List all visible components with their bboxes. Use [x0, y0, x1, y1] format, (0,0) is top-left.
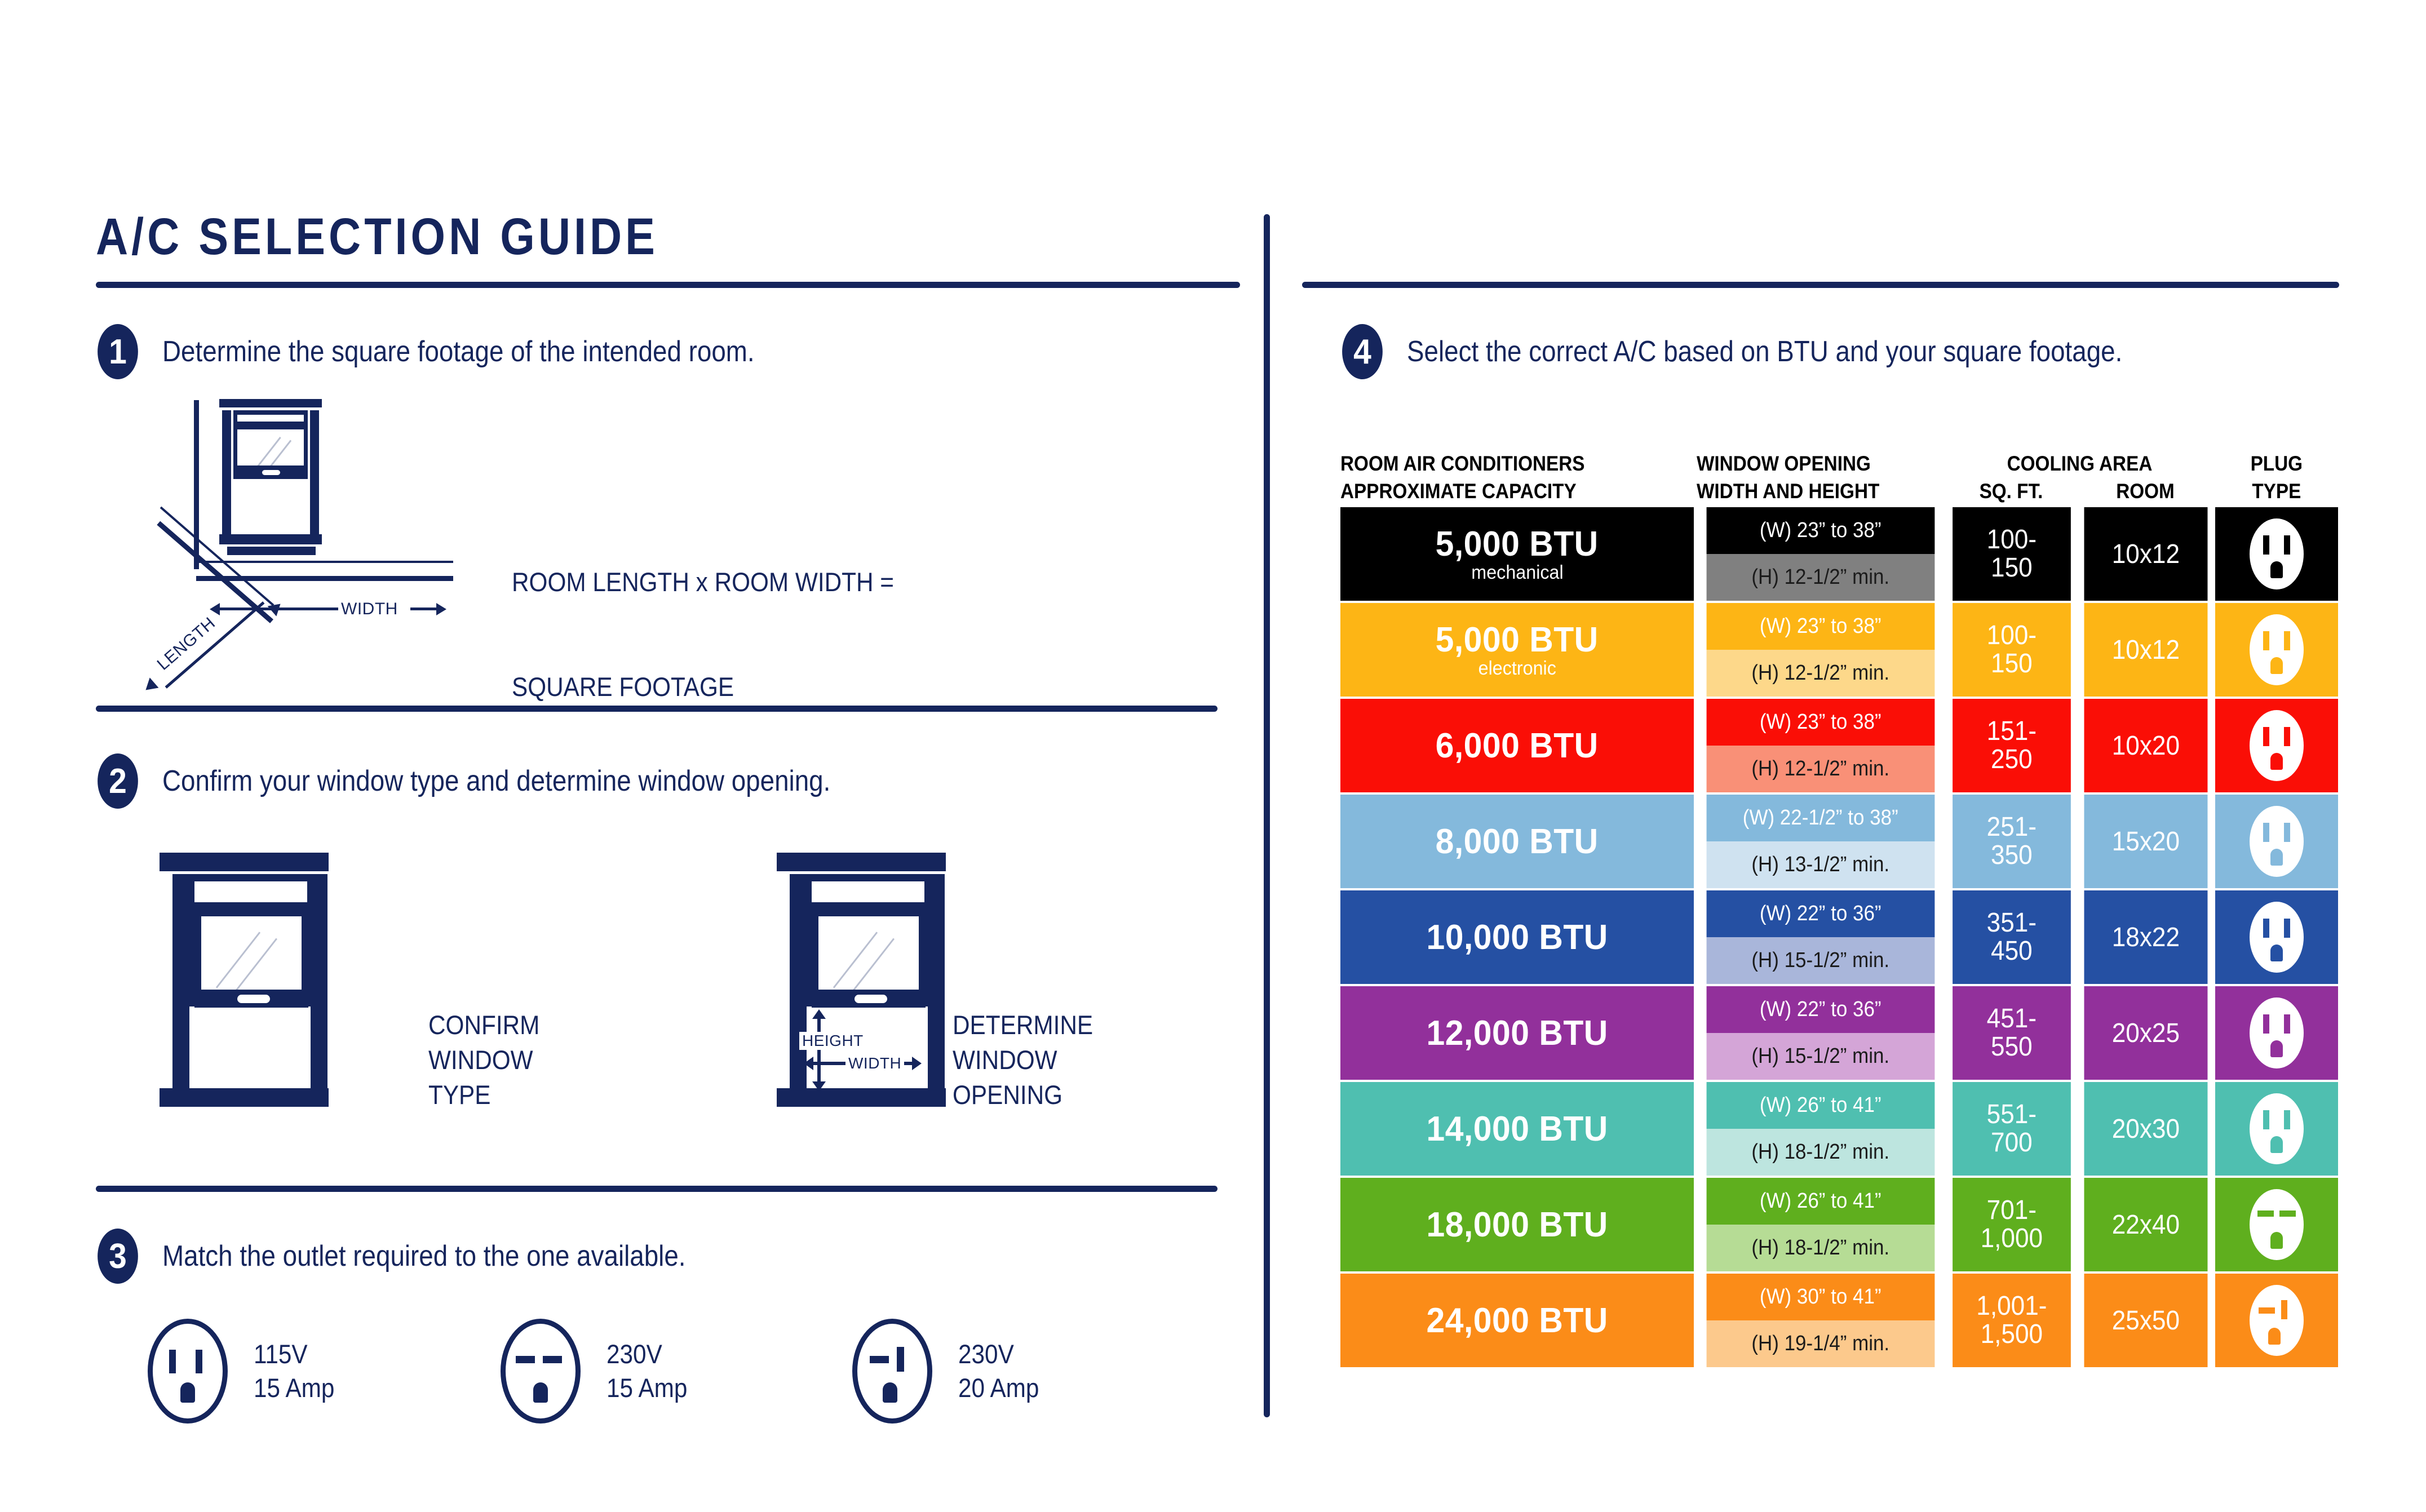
header-cooling-line1: COOLING AREA — [1960, 451, 2199, 480]
window-height-value: (H) 12-1/2” min. — [1707, 554, 1934, 601]
cell-plug-type — [2215, 603, 2338, 697]
window-b-sash-left — [812, 916, 818, 990]
cell-window-opening: (W) 23” to 38”(H) 12-1/2” min. — [1697, 507, 1945, 601]
window-a-glass-reflection-1 — [216, 932, 260, 988]
plug-slot-left-vertical — [2263, 919, 2269, 938]
cell-window-opening: (W) 23” to 38”(H) 12-1/2” min. — [1697, 603, 1945, 697]
center-divider — [1264, 214, 1270, 1417]
opening-height-arrow-up — [812, 1009, 826, 1019]
step-4-text: Select the correct A/C based on BTU and … — [1407, 335, 2122, 369]
room-diagram: WIDTH LENGTH — [130, 389, 490, 688]
step2-step3-divider — [96, 1186, 1218, 1192]
sqft-line: 100- — [1986, 622, 2036, 650]
confirm-window-type-caption: CONFIRM WINDOW TYPE — [428, 1008, 539, 1112]
step-1-text: Determine the square footage of the inte… — [162, 335, 755, 369]
cell-window-opening: (W) 22” to 36”(H) 15-1/2” min. — [1697, 890, 1945, 984]
outlet-230v-15a-face — [501, 1319, 581, 1424]
plug-slot-right-vertical — [2284, 919, 2290, 938]
window-width-value: (W) 26” to 41” — [1707, 1082, 1934, 1129]
outlet-115v-15a: 115V 15 Amp — [148, 1319, 343, 1424]
plug-slot-left-vertical — [2263, 535, 2269, 555]
plug-icon — [2250, 614, 2304, 685]
window-height-value: (H) 18-1/2” min. — [1707, 1129, 1934, 1176]
header-capacity-line2: APPROXIMATE CAPACITY — [1340, 479, 1658, 507]
window-sill — [219, 534, 322, 544]
opening-width-arrow-right — [912, 1057, 922, 1070]
plug-ground-hole — [2268, 1328, 2281, 1345]
cell-sqft: 701-1,000 — [1953, 1178, 2071, 1271]
plug-slot-right-vertical — [2284, 727, 2290, 746]
floor-line-front — [196, 576, 453, 581]
btu-value: 5,000 BTU — [1436, 524, 1599, 564]
outlet-slot-right-vertical — [897, 1347, 904, 1372]
plug-icon — [2250, 806, 2304, 877]
outlet-115v-15a-label: 115V 15 Amp — [254, 1337, 334, 1405]
sqft-line: 100- — [1986, 526, 2036, 554]
header-room: ROOM — [2085, 479, 2206, 507]
plug-slot-right-vertical — [2284, 631, 2290, 650]
cell-sqft: 100-150 — [1953, 507, 2071, 601]
opening-height-label: HEIGHT — [799, 1032, 866, 1050]
window-a-glass-reflection-2 — [235, 938, 277, 992]
table-row: 14,000 BTU(W) 26” to 41”(H) 18-1/2” min.… — [1340, 1082, 2338, 1176]
btu-value: 6,000 BTU — [1436, 726, 1599, 766]
length-arrow-tail-head — [141, 677, 159, 695]
table-row: 18,000 BTU(W) 26” to 41”(H) 18-1/2” min.… — [1340, 1178, 2338, 1271]
cell-window-opening: (W) 23” to 38”(H) 12-1/2” min. — [1697, 699, 1945, 792]
table-row: 5,000 BTUmechanical(W) 23” to 38”(H) 12-… — [1340, 507, 2338, 601]
page-title: A/C SELECTION GUIDE — [96, 207, 658, 267]
sqft-line: 1,001- — [1976, 1292, 2047, 1320]
step-2-text: Confirm your window type and determine w… — [162, 764, 830, 798]
step-2-badge: 2 — [98, 753, 138, 809]
window-height-value: (H) 18-1/2” min. — [1707, 1225, 1934, 1271]
cell-capacity: 14,000 BTU — [1340, 1082, 1694, 1176]
sqft-line: 350 — [1986, 841, 2036, 870]
sqft-line: 351- — [1986, 909, 2036, 937]
cell-room-size: 25x50 — [2084, 1274, 2207, 1367]
length-arrow-group: LENGTH — [148, 608, 283, 681]
plug-slot-left-vertical — [2263, 1110, 2269, 1129]
window-b-glass-reflection-2 — [852, 938, 895, 992]
window-b-sill — [777, 1088, 946, 1107]
plug-ground-hole — [2270, 1232, 2283, 1249]
btu-subtitle: mechanical — [1471, 562, 1563, 584]
cell-plug-type — [2215, 1082, 2338, 1176]
window-a-upper-top-rail — [183, 874, 318, 881]
plug-slot-left-vertical — [2263, 823, 2269, 842]
cell-sqft: 351-450 — [1953, 890, 2071, 984]
determine-window-opening-caption: DETERMINE WINDOW OPENING — [953, 1008, 1093, 1112]
header-capacity-line1: ROOM AIR CONDITIONERS — [1340, 451, 1658, 480]
header-cooling: COOLING AREA SQ. FT. ROOM — [1947, 451, 2212, 507]
btu-value: 18,000 BTU — [1426, 1205, 1608, 1245]
plug-slot-left-vertical — [2263, 727, 2269, 746]
length-label: LENGTH — [152, 612, 222, 676]
window-width-value: (W) 26” to 41” — [1707, 1178, 1934, 1225]
cell-plug-type — [2215, 986, 2338, 1080]
window-a-sill — [160, 1088, 329, 1107]
table-row: 10,000 BTU(W) 22” to 36”(H) 15-1/2” min.… — [1340, 890, 2338, 984]
cell-capacity: 5,000 BTUelectronic — [1340, 603, 1694, 697]
cell-room-size: 10x12 — [2084, 507, 2207, 601]
cell-capacity: 5,000 BTUmechanical — [1340, 507, 1694, 601]
outlet-slot-left-horizontal — [870, 1356, 889, 1363]
outlet-230v-15a-label: 230V 15 Amp — [606, 1337, 687, 1405]
outlet-230v-20a: 230V 20 Amp — [852, 1319, 1048, 1424]
plug-slot-right-vertical — [2284, 1014, 2290, 1034]
window-right-jamb — [310, 410, 319, 534]
outlet-ground-hole — [533, 1382, 548, 1403]
outlet-1-voltage: 115V — [254, 1337, 334, 1371]
window-height-value: (H) 15-1/2” min. — [1707, 1033, 1934, 1080]
window-a-sash-left — [194, 916, 201, 990]
window-b-upper-top-rail — [800, 874, 936, 881]
outlet-ground-hole — [883, 1382, 897, 1403]
plug-ground-hole — [2270, 657, 2283, 674]
cell-room-size: 18x22 — [2084, 890, 2207, 984]
ac-selection-table: ROOM AIR CONDITIONERS APPROXIMATE CAPACI… — [1340, 434, 2338, 1369]
btu-value: 5,000 BTU — [1436, 620, 1599, 660]
step-1-badge: 1 — [98, 324, 138, 379]
window-latch — [262, 470, 280, 475]
plug-slot-right-vertical — [2284, 535, 2290, 555]
plug-icon — [2250, 902, 2304, 973]
window-height-value: (H) 12-1/2” min. — [1707, 650, 1934, 697]
cell-plug-type — [2215, 890, 2338, 984]
plug-icon — [2250, 1189, 2304, 1260]
cell-sqft: 1,001-1,500 — [1953, 1274, 2071, 1367]
opening-height-arrow-line — [817, 1016, 821, 1084]
table-body: 5,000 BTUmechanical(W) 23” to 38”(H) 12-… — [1340, 507, 2338, 1367]
outlet-ground-hole — [180, 1382, 195, 1403]
opening-height-arrow-down — [812, 1081, 826, 1091]
cell-sqft: 251-350 — [1953, 795, 2071, 888]
table-row: 6,000 BTU(W) 23” to 38”(H) 12-1/2” min.1… — [1340, 699, 2338, 792]
cell-window-opening: (W) 22” to 36”(H) 15-1/2” min. — [1697, 986, 1945, 1080]
header-sqft: SQ. FT. — [1954, 479, 2069, 507]
outlet-230v-15a: 230V 15 Amp — [501, 1319, 696, 1424]
outlet-slot-right-horizontal — [543, 1356, 562, 1363]
table-header-row: ROOM AIR CONDITIONERS APPROXIMATE CAPACI… — [1340, 434, 2338, 507]
sqft-line: 701- — [1980, 1196, 2043, 1225]
window-height-value: (H) 13-1/2” min. — [1707, 841, 1934, 888]
square-footage-formula: ROOM LENGTH x ROOM WIDTH = SQUARE FOOTAG… — [512, 495, 894, 739]
btu-subtitle: electronic — [1478, 658, 1556, 680]
outlet-3-amps: 20 Amp — [958, 1371, 1039, 1405]
plug-ground-hole — [2270, 1040, 2283, 1057]
cell-plug-type — [2215, 1274, 2338, 1367]
width-arrow-right-head — [436, 603, 446, 615]
cell-sqft: 100-150 — [1953, 603, 2071, 697]
window-a-upper-right-stile — [307, 874, 318, 1006]
plug-slot-right-vertical — [2284, 823, 2290, 842]
outlet-115v-15a-face — [148, 1319, 228, 1424]
outlet-2-voltage: 230V — [606, 1337, 687, 1371]
width-arrow-line-right — [410, 608, 437, 610]
btu-value: 8,000 BTU — [1436, 822, 1599, 862]
header-plug-line1: PLUG — [2221, 451, 2332, 480]
header-window-line2: WIDTH AND HEIGHT — [1697, 479, 1919, 507]
plug-icon — [2250, 518, 2304, 589]
window-b-upper-left-stile — [800, 874, 812, 1006]
window-upper-sash-rail — [233, 410, 308, 415]
step-2-header: 2 Confirm your window type and determine… — [96, 753, 922, 809]
cell-capacity: 12,000 BTU — [1340, 986, 1694, 1080]
sqft-line: 550 — [1986, 1033, 2036, 1061]
window-width-value: (W) 23” to 38” — [1707, 507, 1934, 554]
window-a-latch — [237, 995, 270, 1003]
sqft-line: 450 — [1986, 937, 2036, 965]
window-type-diagram — [160, 853, 329, 1118]
window-b-meeting-rail — [800, 902, 936, 916]
window-b-sash-right — [919, 916, 926, 990]
window-a-sash-right — [302, 916, 308, 990]
header-capacity: ROOM AIR CONDITIONERS APPROXIMATE CAPACI… — [1340, 451, 1694, 507]
window-a-upper-left-stile — [183, 874, 194, 1006]
sqft-line: 150 — [1986, 650, 2036, 678]
sqft-line: 1,000 — [1980, 1225, 2043, 1253]
step-3-text: Match the outlet required to the one ava… — [162, 1239, 686, 1273]
plug-icon — [2250, 997, 2304, 1068]
window-meeting-rail — [233, 422, 308, 429]
outlet-1-amps: 15 Amp — [254, 1371, 334, 1405]
cell-window-opening: (W) 26” to 41”(H) 18-1/2” min. — [1697, 1178, 1945, 1271]
plug-slot-left-vertical — [2263, 631, 2269, 650]
cell-plug-type — [2215, 507, 2338, 601]
window-b-upper-right-stile — [924, 874, 936, 1006]
cell-sqft: 451-550 — [1953, 986, 2071, 1080]
window-width-value: (W) 23” to 38” — [1707, 603, 1934, 650]
cell-capacity: 6,000 BTU — [1340, 699, 1694, 792]
cell-capacity: 10,000 BTU — [1340, 890, 1694, 984]
opening-width-label: WIDTH — [845, 1054, 904, 1072]
btu-value: 14,000 BTU — [1426, 1109, 1608, 1149]
table-row: 12,000 BTU(W) 22” to 36”(H) 15-1/2” min.… — [1340, 986, 2338, 1080]
window-width-value: (W) 30” to 41” — [1707, 1274, 1934, 1320]
window-b-head-casing — [777, 853, 946, 871]
window-width-value: (W) 22” to 36” — [1707, 890, 1934, 937]
cell-capacity: 24,000 BTU — [1340, 1274, 1694, 1367]
outlet-230v-20a-face — [852, 1319, 932, 1424]
cell-room-size: 20x25 — [2084, 986, 2207, 1080]
cell-plug-type — [2215, 699, 2338, 792]
btu-value: 12,000 BTU — [1426, 1013, 1608, 1053]
plug-icon — [2250, 1093, 2304, 1164]
cell-sqft: 551-700 — [1953, 1082, 2071, 1176]
cell-room-size: 10x20 — [2084, 699, 2207, 792]
plug-ground-hole — [2270, 561, 2283, 578]
btu-value: 10,000 BTU — [1426, 917, 1608, 957]
title-underline-left — [96, 282, 1240, 288]
sqft-line: 251- — [1986, 813, 2036, 841]
window-a-meeting-rail — [183, 902, 318, 916]
window-a-head-casing — [160, 853, 329, 871]
width-label: WIDTH — [338, 600, 401, 619]
window-top-casing — [219, 399, 322, 407]
window-apron — [227, 547, 316, 555]
floor-line-back — [196, 561, 453, 563]
table-row: 24,000 BTU(W) 30” to 41”(H) 19-1/4” min.… — [1340, 1274, 2338, 1367]
table-row: 8,000 BTU(W) 22-1/2” to 38”(H) 13-1/2” m… — [1340, 795, 2338, 888]
title-underline-right — [1302, 282, 2339, 288]
plug-slot-left-horizontal — [2257, 1211, 2274, 1217]
sqft-line: 451- — [1986, 1005, 2036, 1033]
outlet-slot-left-vertical — [169, 1350, 176, 1373]
outlet-2-amps: 15 Amp — [606, 1371, 687, 1405]
formula-line-1: ROOM LENGTH x ROOM WIDTH = — [512, 565, 894, 600]
sqft-line: 700 — [1986, 1129, 2036, 1157]
cell-room-size: 15x20 — [2084, 795, 2207, 888]
sqft-line: 150 — [1986, 554, 2036, 582]
header-window-line1: WINDOW OPENING — [1697, 451, 1919, 480]
cell-plug-type — [2215, 1178, 2338, 1271]
cell-capacity: 8,000 BTU — [1340, 795, 1694, 888]
plug-slot-right-horizontal — [2279, 1211, 2296, 1217]
cell-room-size: 22x40 — [2084, 1178, 2207, 1271]
wall-vertical-edge — [194, 400, 199, 569]
window-height-value: (H) 19-1/4” min. — [1707, 1320, 1934, 1367]
table-row: 5,000 BTUelectronic(W) 23” to 38”(H) 12-… — [1340, 603, 2338, 697]
btu-value: 24,000 BTU — [1426, 1301, 1608, 1341]
window-width-value: (W) 23” to 38” — [1707, 699, 1934, 746]
step-3-badge: 3 — [98, 1229, 138, 1284]
cell-window-opening: (W) 30” to 41”(H) 19-1/4” min. — [1697, 1274, 1945, 1367]
cell-room-size: 20x30 — [2084, 1082, 2207, 1176]
formula-line-2: SQUARE FOOTAGE — [512, 669, 894, 704]
window-height-value: (H) 15-1/2” min. — [1707, 937, 1934, 984]
plug-icon — [2250, 1285, 2304, 1356]
outlet-slot-left-horizontal — [516, 1356, 535, 1363]
cell-sqft: 151-250 — [1953, 699, 2071, 792]
cell-room-size: 10x12 — [2084, 603, 2207, 697]
plug-ground-hole — [2270, 1136, 2283, 1153]
header-window: WINDOW OPENING WIDTH AND HEIGHT — [1697, 451, 1944, 507]
window-b-glass-reflection-1 — [833, 932, 878, 988]
window-opening-diagram: HEIGHT WIDTH — [777, 853, 946, 1118]
plug-slot-right-vertical — [2284, 1110, 2290, 1129]
header-plug: PLUG TYPE — [2215, 451, 2338, 507]
header-plug-line2: TYPE — [2221, 479, 2332, 507]
cell-window-opening: (W) 22-1/2” to 38”(H) 13-1/2” min. — [1697, 795, 1945, 888]
plug-slot-left-horizontal — [2259, 1307, 2275, 1314]
plug-ground-hole — [2270, 945, 2283, 961]
plug-ground-hole — [2270, 849, 2283, 866]
outlet-slot-right-vertical — [196, 1350, 202, 1373]
plug-slot-right-vertical — [2281, 1300, 2287, 1319]
outlet-3-voltage: 230V — [958, 1337, 1039, 1371]
cell-window-opening: (W) 26” to 41”(H) 18-1/2” min. — [1697, 1082, 1945, 1176]
window-b-latch — [855, 995, 887, 1003]
plug-icon — [2250, 710, 2304, 781]
step-4-badge: 4 — [1342, 324, 1383, 379]
plug-ground-hole — [2270, 753, 2283, 770]
opening-width-arrow-left — [804, 1057, 813, 1070]
window-width-value: (W) 22” to 36” — [1707, 986, 1934, 1033]
window-height-value: (H) 12-1/2” min. — [1707, 746, 1934, 792]
cell-plug-type — [2215, 795, 2338, 888]
outlet-230v-20a-label: 230V 20 Amp — [958, 1337, 1039, 1405]
sqft-line: 551- — [1986, 1101, 2036, 1129]
sqft-line: 1,500 — [1976, 1320, 2047, 1349]
step-4-header: 4 Select the correct A/C based on BTU an… — [1340, 324, 2220, 379]
window-left-jamb — [222, 410, 231, 534]
plug-slot-left-vertical — [2263, 1014, 2269, 1034]
window-width-value: (W) 22-1/2” to 38” — [1707, 795, 1934, 841]
step-1-header: 1 Determine the square footage of the in… — [96, 324, 835, 379]
cell-capacity: 18,000 BTU — [1340, 1178, 1694, 1271]
room-window — [217, 399, 324, 551]
sqft-line: 250 — [1986, 746, 2036, 774]
sqft-line: 151- — [1986, 717, 2036, 746]
step-3-header: 3 Match the outlet required to the one a… — [96, 1229, 757, 1284]
